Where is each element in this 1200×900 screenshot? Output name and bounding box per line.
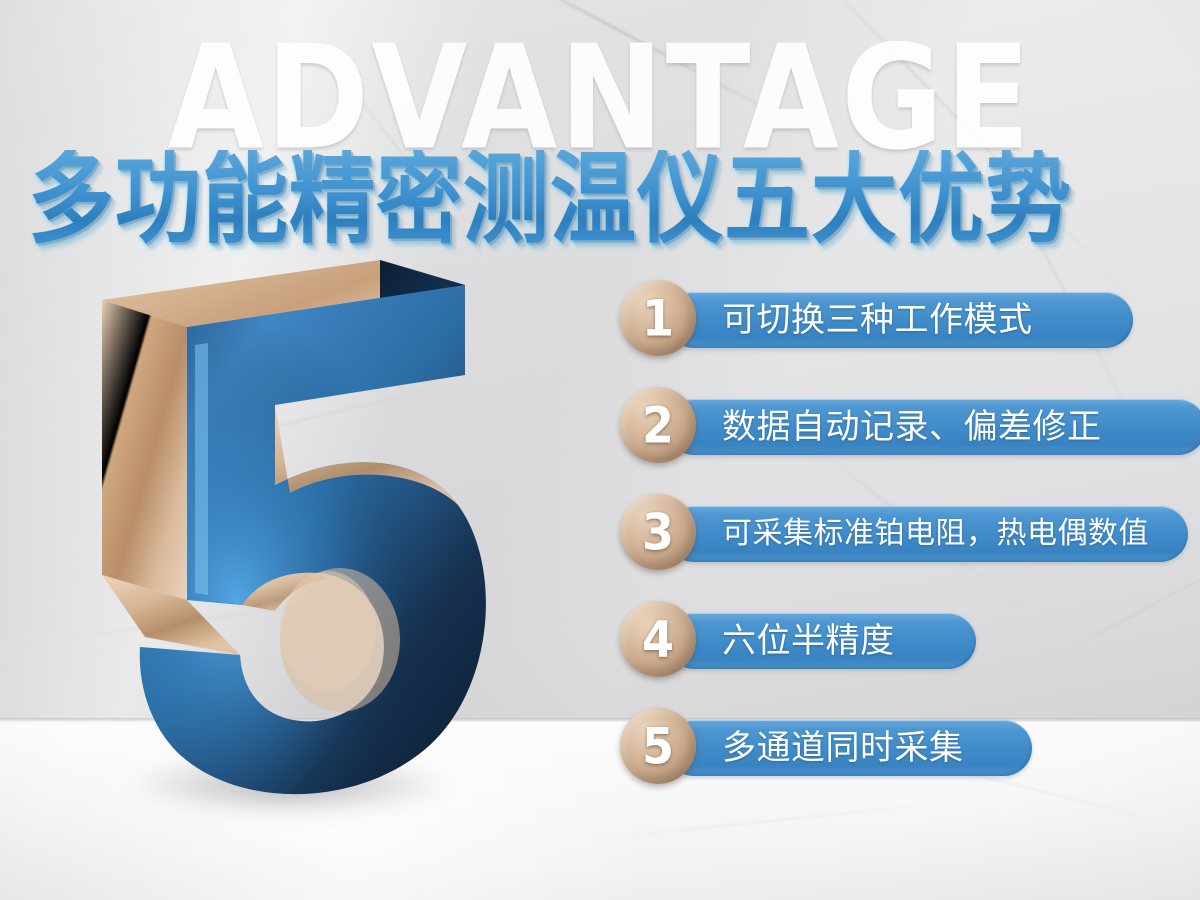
feature-pill[interactable]: 多通道同时采集 <box>666 720 1032 776</box>
feature-pill[interactable]: 六位半精度 <box>666 613 976 669</box>
hero-numeral-graphic <box>90 255 530 845</box>
feature-pill[interactable]: 可切换三种工作模式 <box>666 292 1133 348</box>
feature-label: 六位半精度 <box>722 624 895 658</box>
feature-label: 可采集标准铂电阻，热电偶数值 <box>722 519 1149 549</box>
feature-item-5[interactable]: 多通道同时采集 5 <box>620 708 1190 815</box>
hero-numeral-5 <box>90 255 530 845</box>
feature-badge: 1 <box>620 280 696 356</box>
feature-item-2[interactable]: 数据自动记录、偏差修正 2 <box>620 387 1190 494</box>
feature-item-4[interactable]: 六位半精度 4 <box>620 601 1190 708</box>
feature-number: 5 <box>642 721 674 771</box>
feature-badge: 2 <box>620 387 696 463</box>
hero-numeral-svg <box>90 255 530 845</box>
feature-badge: 3 <box>620 494 696 570</box>
feature-item-3[interactable]: 可采集标准铂电阻，热电偶数值 3 <box>620 494 1190 601</box>
feature-label: 可切换三种工作模式 <box>722 303 1033 337</box>
feature-pill[interactable]: 可采集标准铂电阻，热电偶数值 <box>666 506 1188 562</box>
feature-number: 1 <box>642 293 674 343</box>
feature-badge: 4 <box>620 601 696 677</box>
feature-number: 3 <box>642 507 674 557</box>
feature-item-1[interactable]: 可切换三种工作模式 1 <box>620 280 1190 387</box>
feature-label: 数据自动记录、偏差修正 <box>722 410 1102 444</box>
feature-pill[interactable]: 数据自动记录、偏差修正 <box>666 399 1200 455</box>
feature-number: 4 <box>642 614 674 664</box>
page-title: 多功能精密测温仪五大优势 <box>28 150 1178 250</box>
feature-list: 可切换三种工作模式 1 数据自动记录、偏差修正 2 可采集标准铂电阻，热电偶数值… <box>620 280 1190 815</box>
feature-badge: 5 <box>620 708 696 784</box>
feature-number: 2 <box>642 400 674 450</box>
advantage-poster: ADVANTAGE 多功能精密测温仪五大优势 <box>0 0 1200 900</box>
feature-label: 多通道同时采集 <box>722 731 964 765</box>
